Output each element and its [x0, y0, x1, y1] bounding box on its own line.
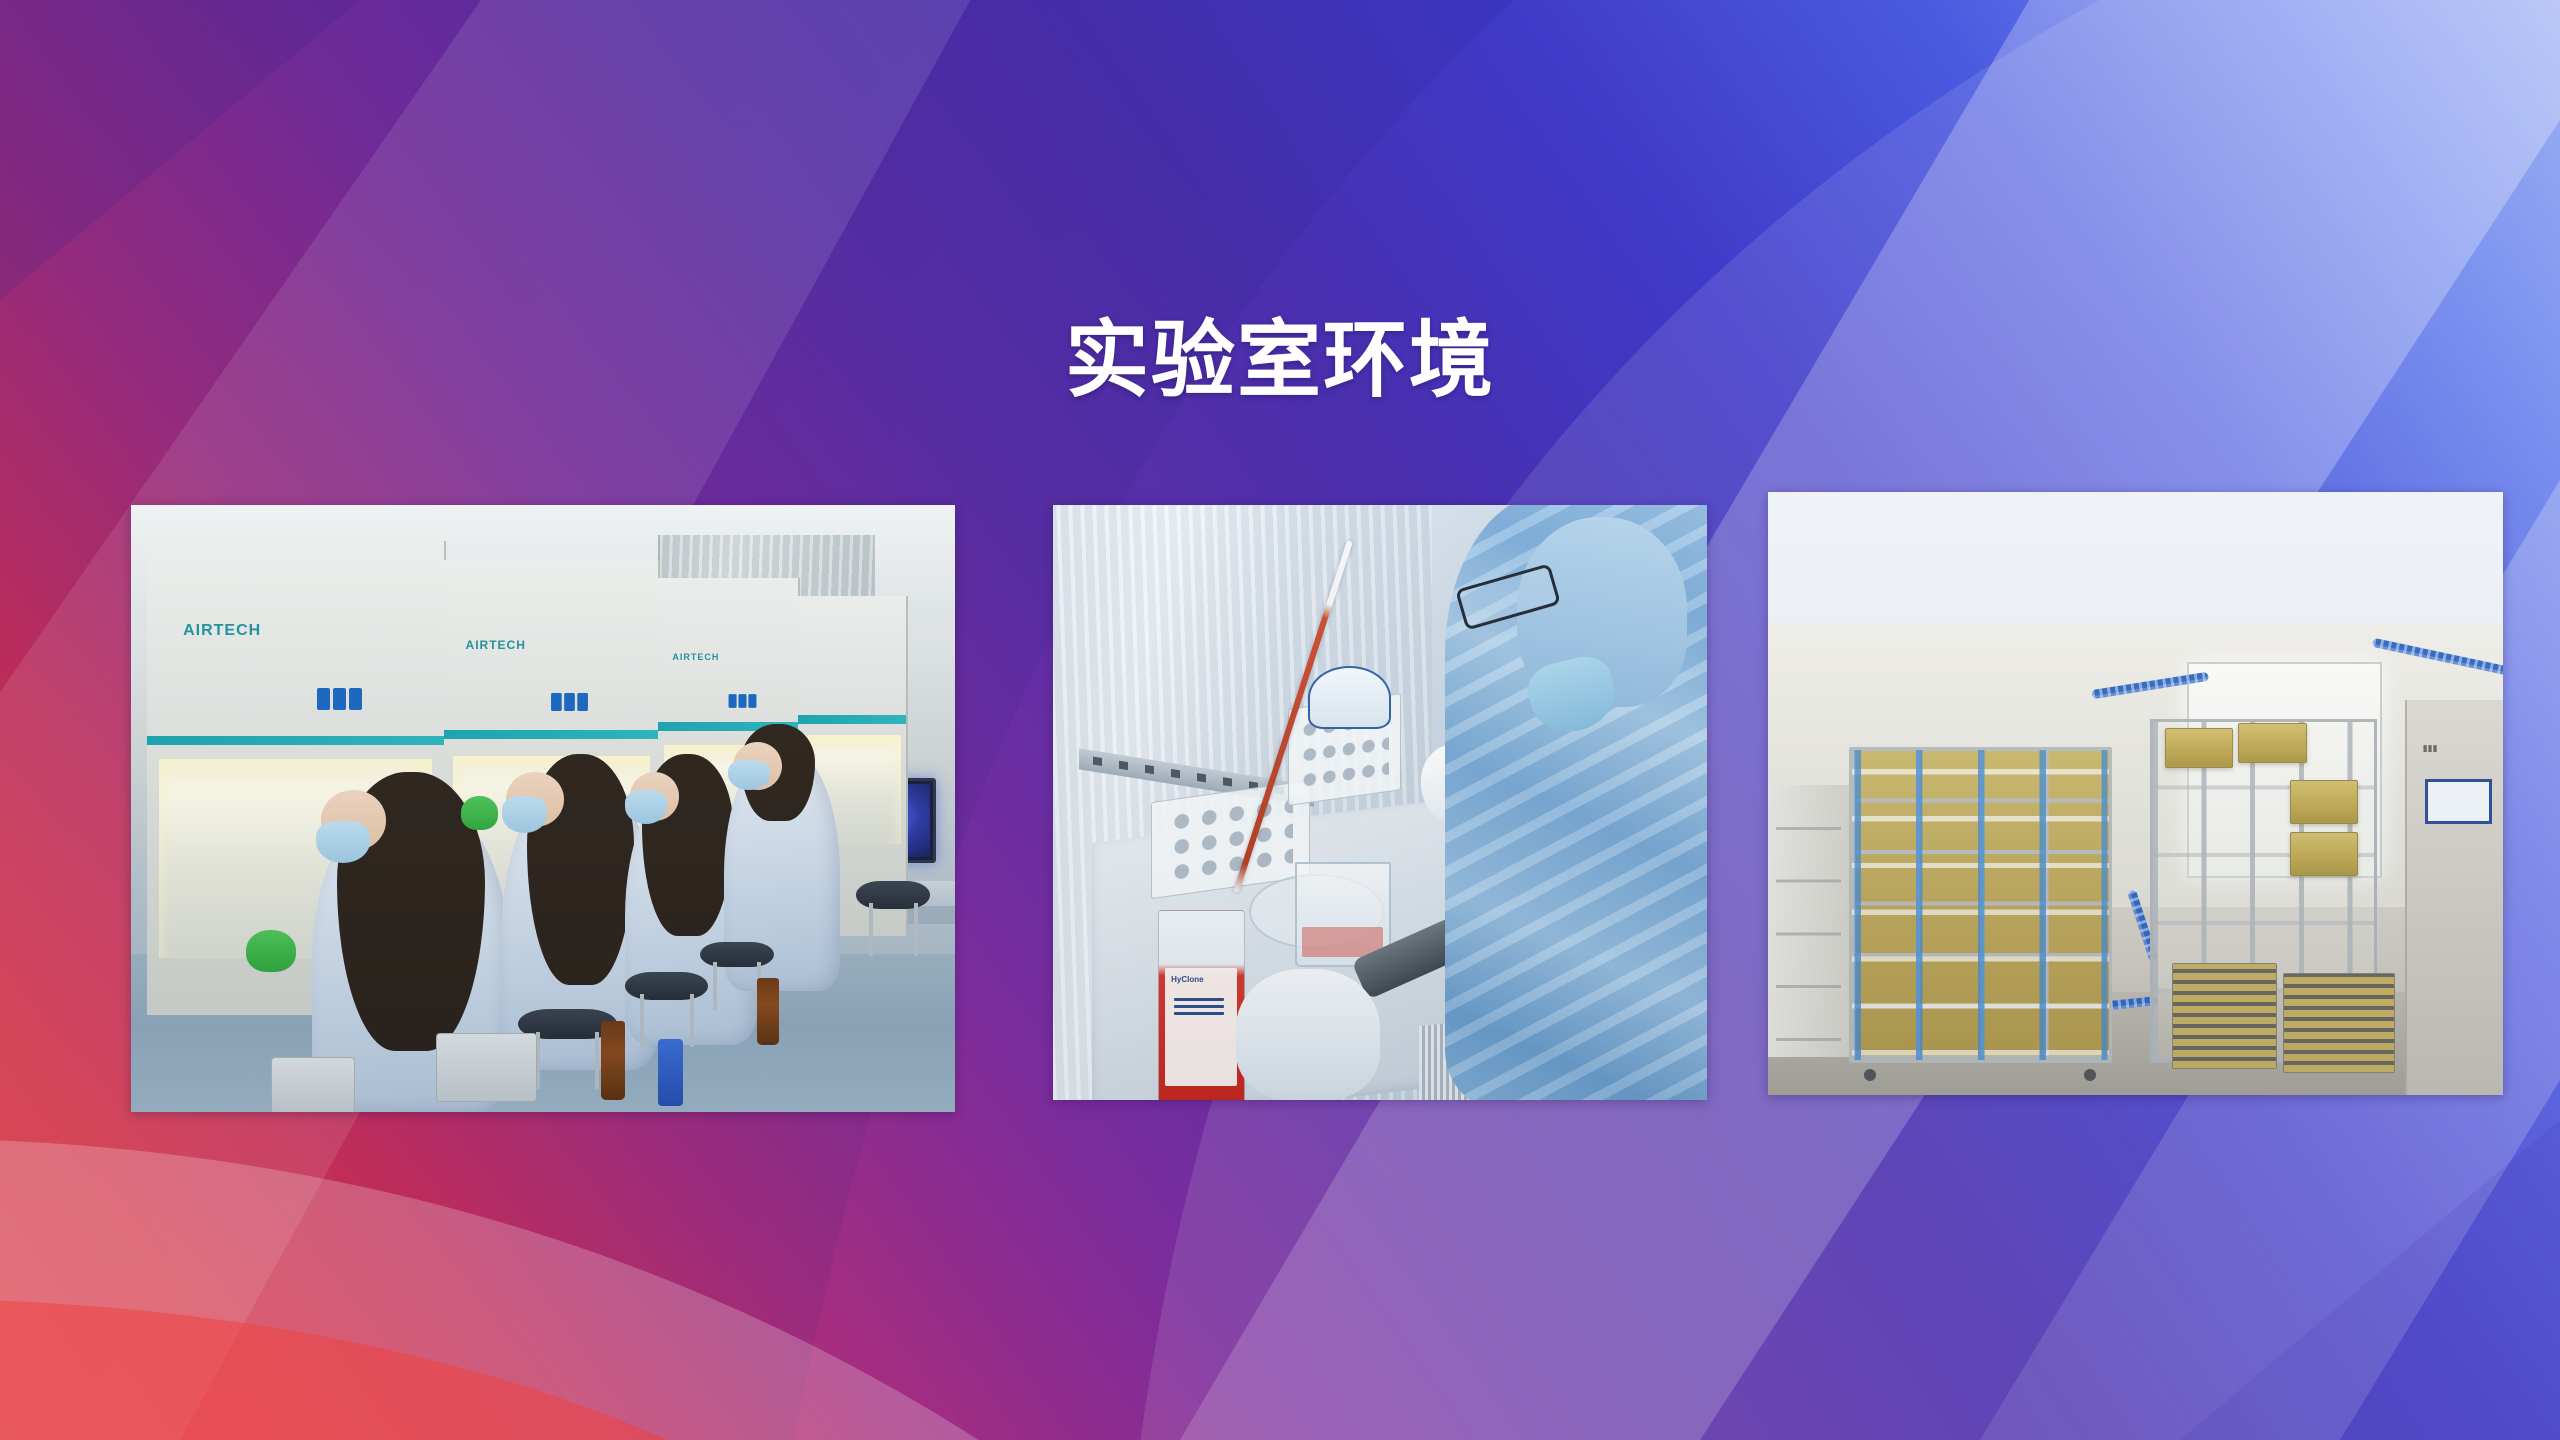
- worker-2-glove: [461, 796, 498, 829]
- rack-caster-2: [2084, 1069, 2096, 1081]
- waste-bin-2: [271, 1057, 355, 1112]
- safety-decals-3: [729, 695, 757, 709]
- left-equipment-frame: [1768, 785, 1851, 1058]
- worker-3-mask: [625, 790, 666, 823]
- photo-1-content: AIRTECH AIRTECH AIRTECH: [131, 505, 955, 1112]
- slide-root: 实验室环境 AIRTECH AIRTECH: [0, 0, 2560, 1440]
- facility-room: ▮▮▮: [1768, 625, 2503, 1095]
- rack-caster-1: [1864, 1069, 1876, 1081]
- loaded-cage-rack: [1849, 747, 2112, 1063]
- photo-3-white-band: [1768, 492, 2503, 625]
- hyclone-brand-text: HyClone: [1171, 975, 1203, 984]
- airtech-logo-1: AIRTECH: [183, 622, 261, 640]
- cabinet-teal-band-2: [444, 730, 658, 739]
- hanging-cage-2: [2238, 723, 2306, 763]
- safety-decals-2: [551, 693, 588, 711]
- lab-stool-4: [856, 881, 930, 954]
- safety-decals-1: [317, 688, 362, 710]
- worker-1-glove: [246, 930, 295, 972]
- worker-2-mask: [502, 796, 547, 832]
- stacked-cage-trays-1: [2172, 963, 2277, 1068]
- reagent-bottle-2: [757, 978, 778, 1045]
- photo-2-content: HyClone: [1053, 505, 1707, 1100]
- photo-3-content: ▮▮▮: [1768, 492, 2503, 1095]
- control-cabinet: ▮▮▮: [2405, 700, 2503, 1095]
- photo-lab-bench-row[interactable]: AIRTECH AIRTECH AIRTECH: [131, 505, 955, 1112]
- cabinet-display-screen: [2425, 779, 2492, 825]
- worker-1-mask: [316, 821, 370, 863]
- specimen-jar: [1308, 666, 1390, 730]
- spray-bottle: [658, 1039, 683, 1106]
- reagent-bottle-1: [601, 1021, 626, 1100]
- gloved-hand: [1236, 969, 1380, 1100]
- lab-stool-2: [625, 972, 707, 1045]
- photo-animal-cage-rack-room[interactable]: ▮▮▮: [1768, 492, 2503, 1095]
- cabinet-teal-band-4: [798, 715, 905, 724]
- hanging-cage-3: [2290, 780, 2358, 824]
- waste-bin-1: [436, 1033, 537, 1102]
- airtech-logo-2: AIRTECH: [466, 638, 526, 652]
- photo-pipetting-cabinet[interactable]: HyClone: [1053, 505, 1707, 1100]
- label-handwriting: [1174, 998, 1224, 1001]
- cabinet-teal-band-1: [147, 736, 444, 745]
- airtech-logo-3: AIRTECH: [672, 652, 719, 662]
- cabinet-label-text: ▮▮▮: [2423, 743, 2438, 754]
- media-bottle-label: HyClone: [1165, 968, 1236, 1086]
- stacked-cage-trays-2: [2283, 973, 2395, 1074]
- hyclone-media-bottle: HyClone: [1158, 910, 1245, 1100]
- hanging-cage-1: [2165, 728, 2233, 768]
- page-title: 实验室环境: [0, 318, 2560, 402]
- hanging-cage-4: [2290, 832, 2358, 876]
- worker-4-mask: [728, 760, 769, 790]
